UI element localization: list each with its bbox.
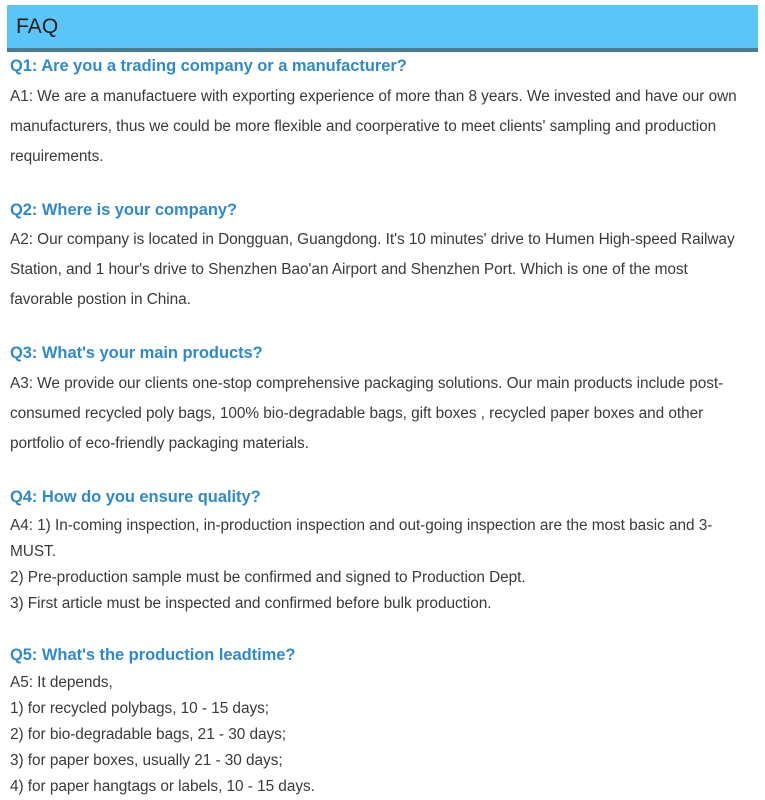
faq-question-q3: Q3: What's your main products? bbox=[10, 343, 751, 364]
faq-answer-q4: A4: 1) In-coming inspection, in-producti… bbox=[10, 513, 751, 617]
faq-item-q4: Q4: How do you ensure quality? A4: 1) In… bbox=[10, 487, 751, 617]
faq-header-banner: FAQ bbox=[7, 5, 758, 52]
faq-item-q3: Q3: What's your main products? A3: We pr… bbox=[10, 343, 751, 459]
faq-question-q4: Q4: How do you ensure quality? bbox=[10, 487, 751, 508]
faq-answer-line: A4: 1) In-coming inspection, in-producti… bbox=[10, 513, 751, 565]
faq-question-q2: Q2: Where is your company? bbox=[10, 200, 751, 221]
faq-answer-line: 3) First article must be inspected and c… bbox=[10, 591, 751, 617]
faq-item-q2: Q2: Where is your company? A2: Our compa… bbox=[10, 200, 751, 316]
faq-answer-line: 2) for bio-degradable bags, 21 - 30 days… bbox=[10, 722, 751, 748]
faq-answer-line: 3) for paper boxes, usually 21 - 30 days… bbox=[10, 748, 751, 774]
faq-page: FAQ Q1: Are you a trading company or a m… bbox=[0, 0, 765, 748]
faq-answer-q5: A5: It depends, 1) for recycled polybags… bbox=[10, 670, 751, 800]
page-title: FAQ bbox=[7, 16, 58, 37]
faq-list: Q1: Are you a trading company or a manuf… bbox=[0, 56, 765, 800]
faq-answer-line: A5: It depends, bbox=[10, 670, 751, 696]
faq-answer-line: 1) for recycled polybags, 10 - 15 days; bbox=[10, 696, 751, 722]
faq-answer-line: 2) Pre-production sample must be confirm… bbox=[10, 565, 751, 591]
faq-answer-q2: A2: Our company is located in Dongguan, … bbox=[10, 225, 751, 315]
faq-item-q1: Q1: Are you a trading company or a manuf… bbox=[10, 56, 751, 172]
faq-answer-q1: A1: We are a manufactuere with exporting… bbox=[10, 82, 751, 172]
faq-question-q1: Q1: Are you a trading company or a manuf… bbox=[10, 56, 751, 77]
faq-answer-line: 4) for paper hangtags or labels, 10 - 15… bbox=[10, 774, 751, 800]
faq-answer-q3: A3: We provide our clients one-stop comp… bbox=[10, 369, 751, 459]
faq-item-q5: Q5: What's the production leadtime? A5: … bbox=[10, 645, 751, 800]
faq-question-q5: Q5: What's the production leadtime? bbox=[10, 645, 751, 666]
